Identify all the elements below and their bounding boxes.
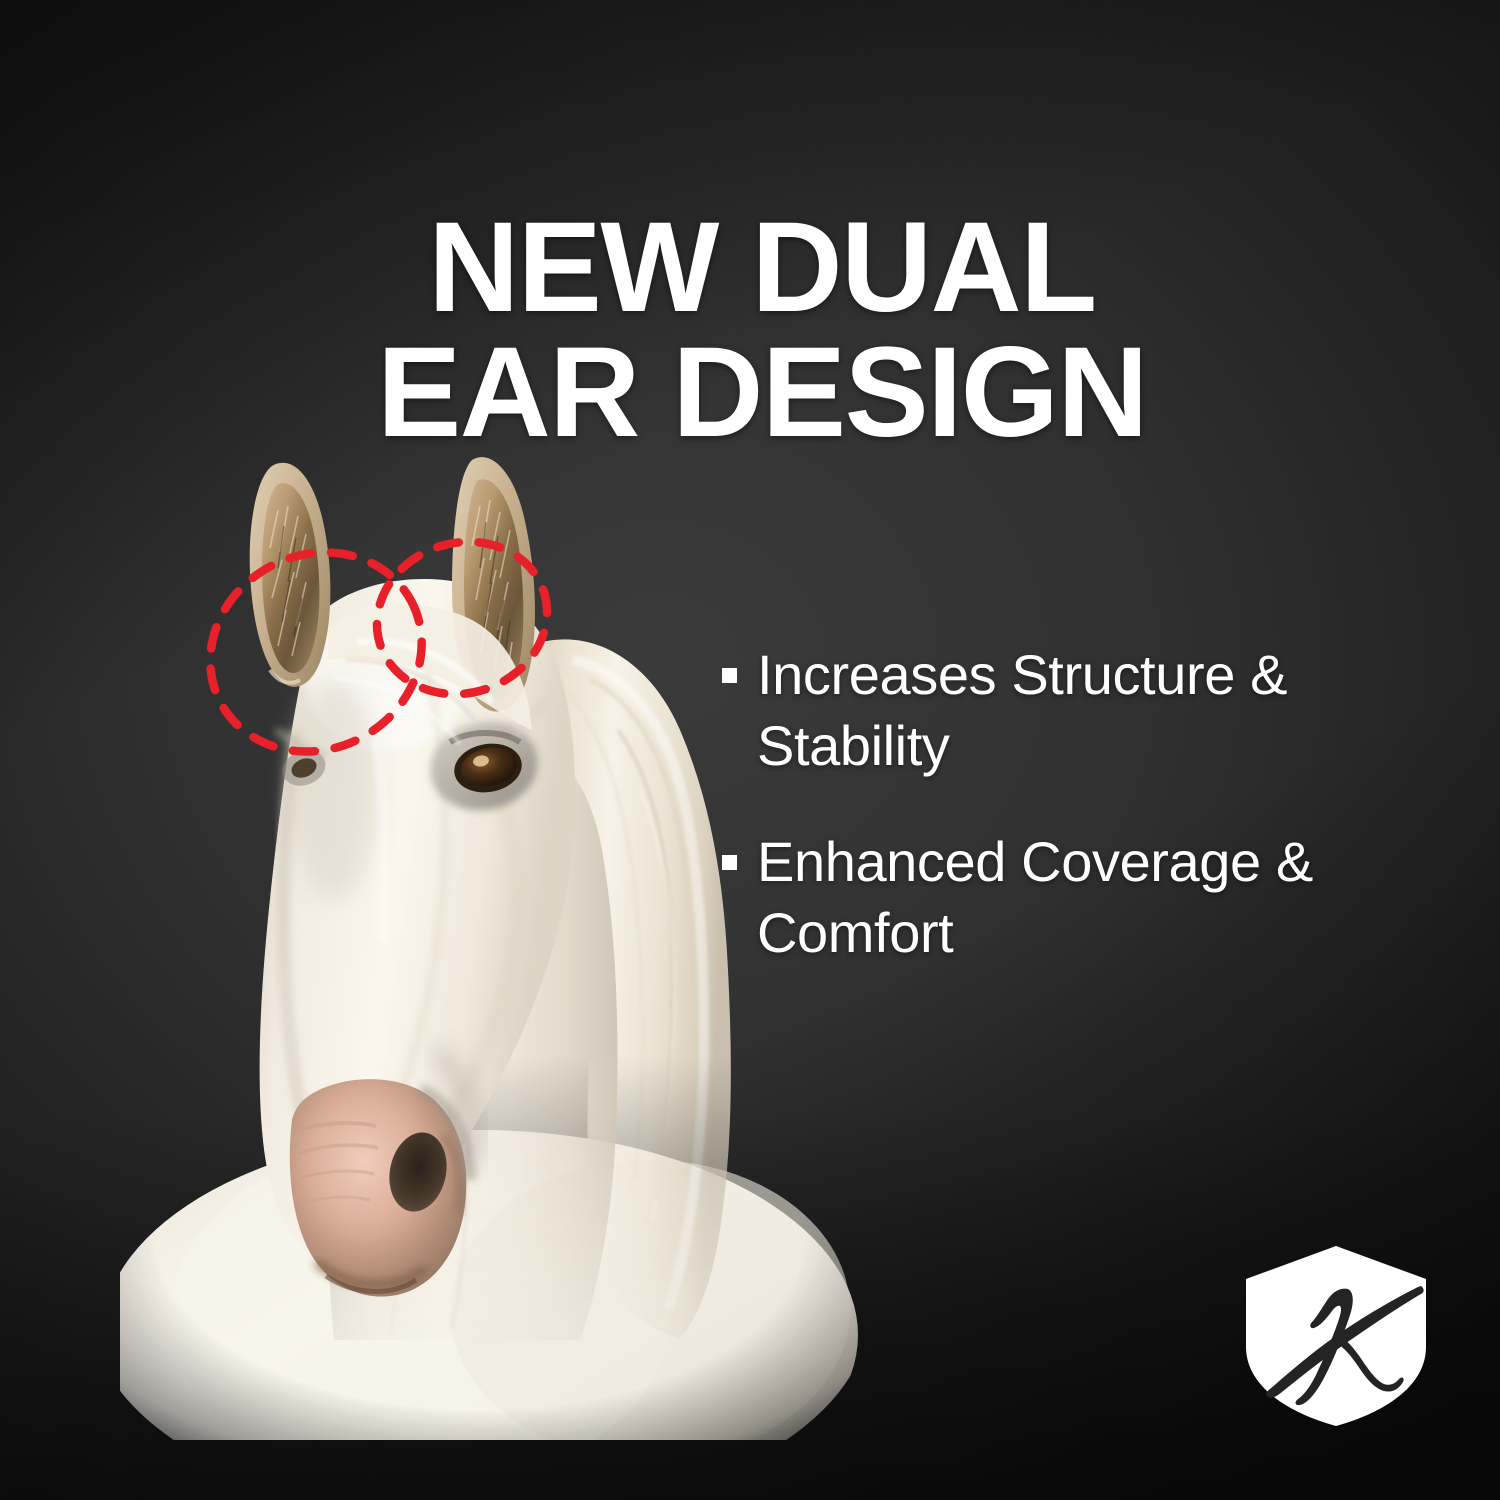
square-bullet-icon: [722, 668, 737, 683]
feature-label: Enhanced Coverage & Comfort: [757, 827, 1382, 968]
square-bullet-icon: [722, 855, 737, 870]
promo-banner: NEW DUAL EAR DESIGN Increases Structure …: [0, 0, 1500, 1500]
page-title: NEW DUAL EAR DESIGN: [270, 206, 1255, 456]
feature-label: Increases Structure & Stability: [757, 640, 1382, 781]
list-item: Increases Structure & Stability: [722, 640, 1422, 781]
feature-list: Increases Structure & Stability Enhanced…: [722, 640, 1422, 1014]
list-item: Enhanced Coverage & Comfort: [722, 827, 1422, 968]
shield-k-icon: [1240, 1243, 1432, 1429]
brand-logo: [1240, 1243, 1432, 1429]
